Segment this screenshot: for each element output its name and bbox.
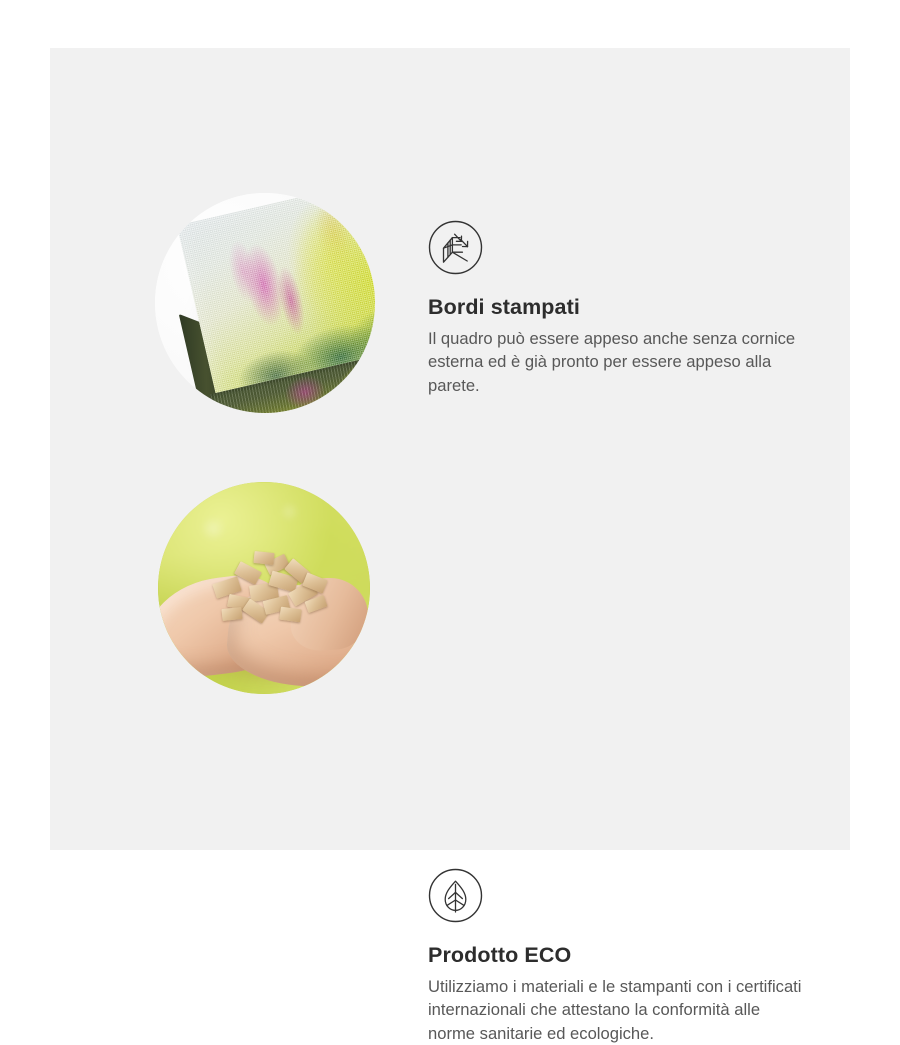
hands-holding-wood-chips-photo [158,482,370,694]
feature-row-bordi-stampati: Bordi stampati Il quadro può essere appe… [50,48,850,428]
content-panel: Bordi stampati Il quadro può essere appe… [50,48,850,850]
product-feature-infographic: Bordi stampati Il quadro può essere appe… [0,0,900,900]
leaf-icon [428,868,483,923]
canvas-wrapped-edge-icon [428,220,483,275]
feature-text-bordi-stampati: Bordi stampati Il quadro può essere appe… [428,220,806,397]
feature-text-prodotto-eco: Prodotto ECO Utilizziamo i materiali e l… [428,868,806,1045]
feature-row-prodotto-eco: Prodotto ECO Utilizziamo i materiali e l… [50,428,850,758]
feature-title: Prodotto ECO [428,942,806,969]
feature-description: Il quadro può essere appeso anche senza … [428,327,806,398]
canvas-block [155,193,375,413]
feature-title: Bordi stampati [428,294,806,321]
feature-description: Utilizziamo i materiali e le stampanti c… [428,975,806,1045]
canvas-print-corner-photo [155,193,375,413]
wood-chip-pile [210,550,332,632]
